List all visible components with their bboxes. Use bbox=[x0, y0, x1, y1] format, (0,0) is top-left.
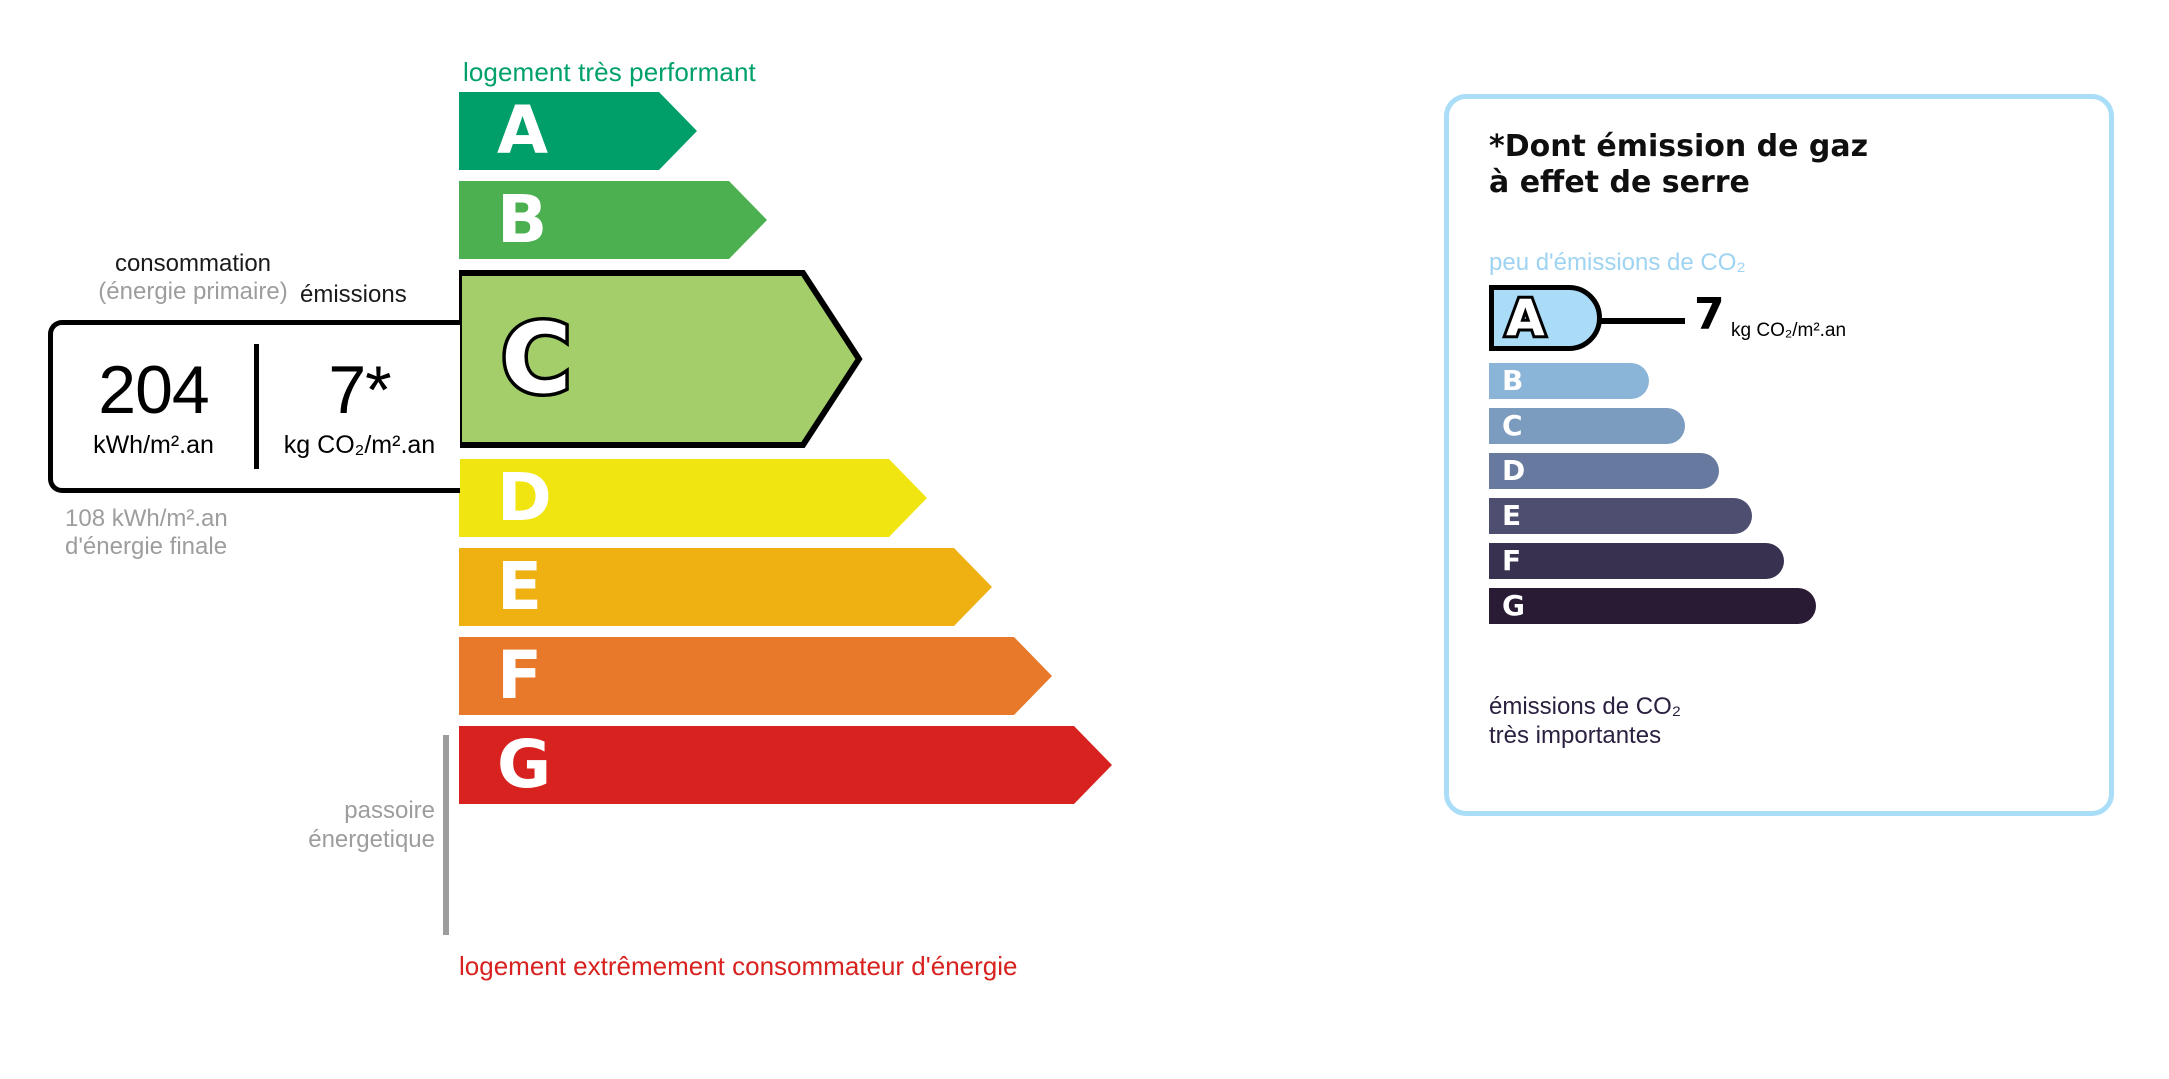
primary-energy-unit: kWh/m².an bbox=[53, 433, 254, 458]
primary-energy-value-cell: 204 kWh/m².an bbox=[53, 356, 254, 458]
ges-bar-letter-c: C bbox=[1502, 412, 1523, 440]
energy-bar-g: G bbox=[459, 726, 1259, 804]
consumption-label-line2: (énergie primaire) bbox=[73, 278, 313, 306]
final-energy-line1: 108 kWh/m².an bbox=[65, 505, 228, 533]
final-energy-line2: d'énergie finale bbox=[65, 533, 228, 561]
primary-energy-value: 204 bbox=[53, 356, 254, 424]
ges-top-caption: peu d'émissions de CO₂ bbox=[1489, 249, 1746, 277]
passoire-marker-bar bbox=[443, 735, 449, 935]
value-box: 204 kWh/m².an 7* kg CO₂/m².an bbox=[48, 320, 460, 493]
ges-bar-letter-b: B bbox=[1502, 367, 1523, 395]
energy-bar-c-selected: C bbox=[459, 270, 1259, 448]
energy-bar-f: F bbox=[459, 637, 1259, 715]
consumption-label-line1: consommation bbox=[115, 250, 271, 277]
arrow-shape-e bbox=[459, 548, 1014, 626]
ges-bar-shape-f bbox=[1489, 543, 1784, 579]
emission-unit: kg CO₂/m².an bbox=[259, 433, 460, 458]
ges-bar-letter-e: E bbox=[1502, 502, 1521, 530]
energy-bottom-caption: logement extrêmement consommateur d'éner… bbox=[459, 951, 1017, 982]
ges-bar-letter-a: A bbox=[1506, 293, 1545, 343]
ges-bar-shape-e bbox=[1489, 498, 1752, 534]
ges-bar-shape-g bbox=[1489, 588, 1816, 624]
ges-title-line2: à effet de serre bbox=[1489, 165, 1868, 201]
ges-bottom-caption: émissions de CO₂ très importantes bbox=[1489, 693, 1681, 751]
energy-class-bars: A B C D E bbox=[459, 92, 1259, 815]
ges-bar-letter-f: F bbox=[1502, 547, 1521, 575]
emission-value-cell: 7* kg CO₂/m².an bbox=[259, 356, 460, 458]
passoire-label-line2: énergetique bbox=[190, 826, 435, 855]
energy-bar-e: E bbox=[459, 548, 1259, 626]
emission-value: 7* bbox=[259, 356, 460, 424]
ges-bar-letter-d: D bbox=[1502, 457, 1525, 485]
consumption-label: consommation (énergie primaire) bbox=[73, 250, 313, 306]
ges-title-line1: *Dont émission de gaz bbox=[1489, 129, 1868, 165]
ges-value-unit: kg CO₂/m².an bbox=[1731, 320, 1846, 342]
arrow-shape-c bbox=[459, 270, 879, 448]
arrow-shape-b bbox=[459, 181, 789, 259]
passoire-label: passoire énergetique bbox=[190, 797, 435, 855]
final-energy-note: 108 kWh/m².an d'énergie finale bbox=[65, 505, 228, 562]
arrow-shape-f bbox=[459, 637, 1074, 715]
ges-panel: *Dont émission de gaz à effet de serre p… bbox=[1444, 94, 2114, 816]
arrow-shape-g bbox=[459, 726, 1134, 804]
energy-performance-diagram: logement très performant A B C D bbox=[0, 0, 1400, 1079]
energy-bar-a: A bbox=[459, 92, 1259, 170]
energy-bar-b: B bbox=[459, 181, 1259, 259]
ges-bottom-caption-line1: émissions de CO₂ bbox=[1489, 693, 1681, 722]
ges-value: 7 bbox=[1694, 293, 1725, 337]
passoire-label-line1: passoire bbox=[190, 797, 435, 826]
energy-top-caption: logement très performant bbox=[463, 57, 756, 88]
energy-bar-d: D bbox=[459, 459, 1259, 537]
ges-leader-line bbox=[1597, 318, 1685, 324]
ges-bottom-caption-line2: très importantes bbox=[1489, 722, 1681, 751]
ges-bar-letter-g: G bbox=[1502, 592, 1525, 620]
emissions-label: émissions bbox=[300, 281, 407, 309]
ges-title: *Dont émission de gaz à effet de serre bbox=[1489, 129, 1868, 201]
arrow-shape-a bbox=[459, 92, 719, 170]
arrow-shape-d bbox=[459, 459, 949, 537]
